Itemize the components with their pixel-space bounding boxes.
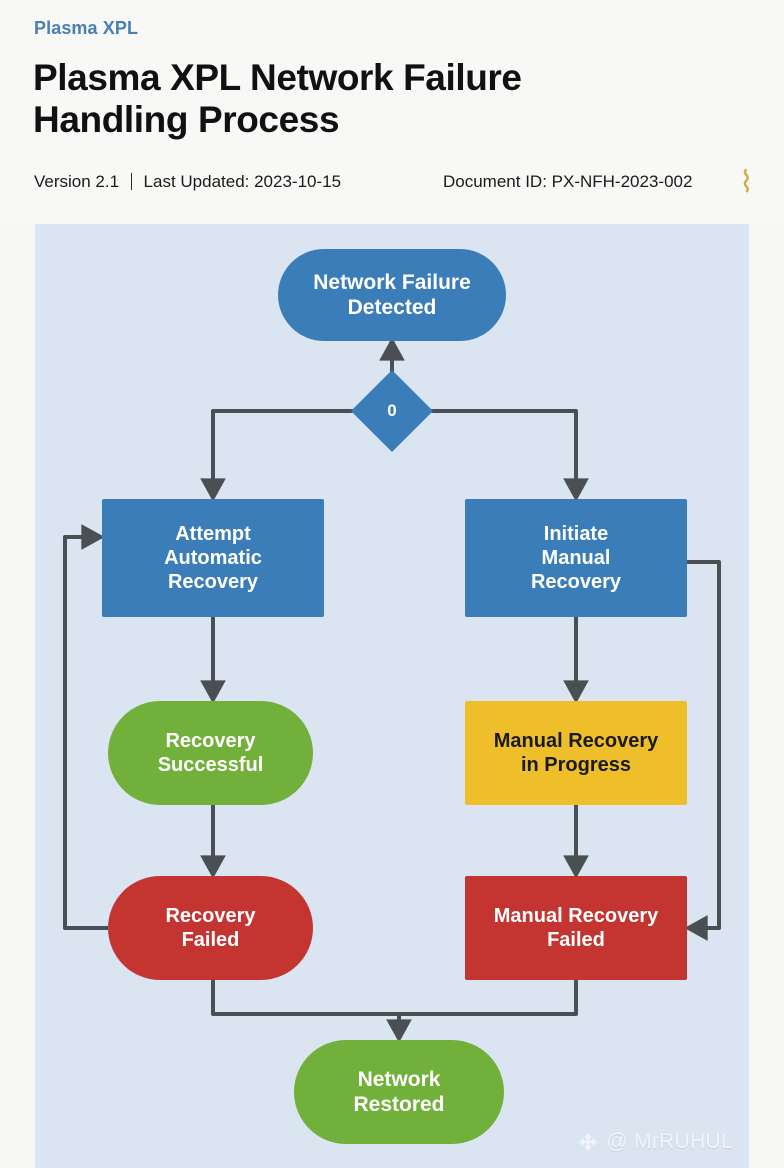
document-meta-row: Version 2.1 Last Updated: 2023-10-15 Doc…	[34, 172, 764, 198]
node-label: Initiate Manual Recovery	[531, 522, 621, 594]
ornament-glyph-icon: ⌇	[739, 166, 754, 200]
edge-manual-loop-to-manualfailed	[687, 562, 719, 928]
edge-decision-to-auto	[213, 411, 361, 490]
node-recovery-successful[interactable]: Recovery Successful	[108, 701, 313, 805]
last-updated-text: Last Updated: 2023-10-15	[144, 172, 342, 191]
version-and-updated: Version 2.1 Last Updated: 2023-10-15	[34, 172, 341, 192]
watermark-text: @ MrRUHUL	[606, 1130, 733, 1154]
node-label: Network Failure Detected	[313, 270, 471, 320]
node-network-restored[interactable]: Network Restored	[294, 1040, 504, 1144]
node-manual-recovery-in-progress[interactable]: Manual Recovery in Progress	[465, 701, 687, 805]
node-manual-recovery-failed[interactable]: Manual Recovery Failed	[465, 876, 687, 980]
edge-manualfailed-to-restored	[399, 980, 576, 1014]
node-label: Network Restored	[353, 1067, 444, 1117]
flowchart-edges	[35, 224, 749, 1168]
edge-decision-to-manual	[423, 411, 576, 490]
node-label: Manual Recovery Failed	[494, 904, 659, 952]
diamond-logo-icon	[577, 1131, 599, 1153]
edge-failed-to-restored	[213, 980, 399, 1031]
document-id-text: Document ID: PX-NFH-2023-002	[443, 172, 692, 192]
node-label: Recovery Failed	[165, 904, 255, 952]
page-title: Plasma XPL Network Failure Handling Proc…	[33, 57, 673, 141]
node-label: Manual Recovery in Progress	[494, 729, 659, 777]
node-attempt-automatic-recovery[interactable]: Attempt Automatic Recovery	[102, 499, 324, 617]
node-network-failure-detected[interactable]: Network Failure Detected	[278, 249, 506, 341]
brand-label: Plasma XPL	[34, 18, 138, 39]
flowchart-canvas: Network Failure Detected 0 Attempt Autom…	[35, 224, 749, 1168]
version-text: Version 2.1	[34, 172, 119, 191]
node-recovery-failed[interactable]: Recovery Failed	[108, 876, 313, 980]
node-initiate-manual-recovery[interactable]: Initiate Manual Recovery	[465, 499, 687, 617]
meta-separator	[131, 173, 132, 190]
node-decision-label: 0	[363, 382, 421, 440]
node-label: Recovery Successful	[158, 729, 264, 777]
watermark: @ MrRUHUL	[577, 1130, 733, 1154]
node-label: Attempt Automatic Recovery	[164, 522, 262, 594]
document-header: Plasma XPL Plasma XPL Network Failure Ha…	[0, 0, 784, 224]
